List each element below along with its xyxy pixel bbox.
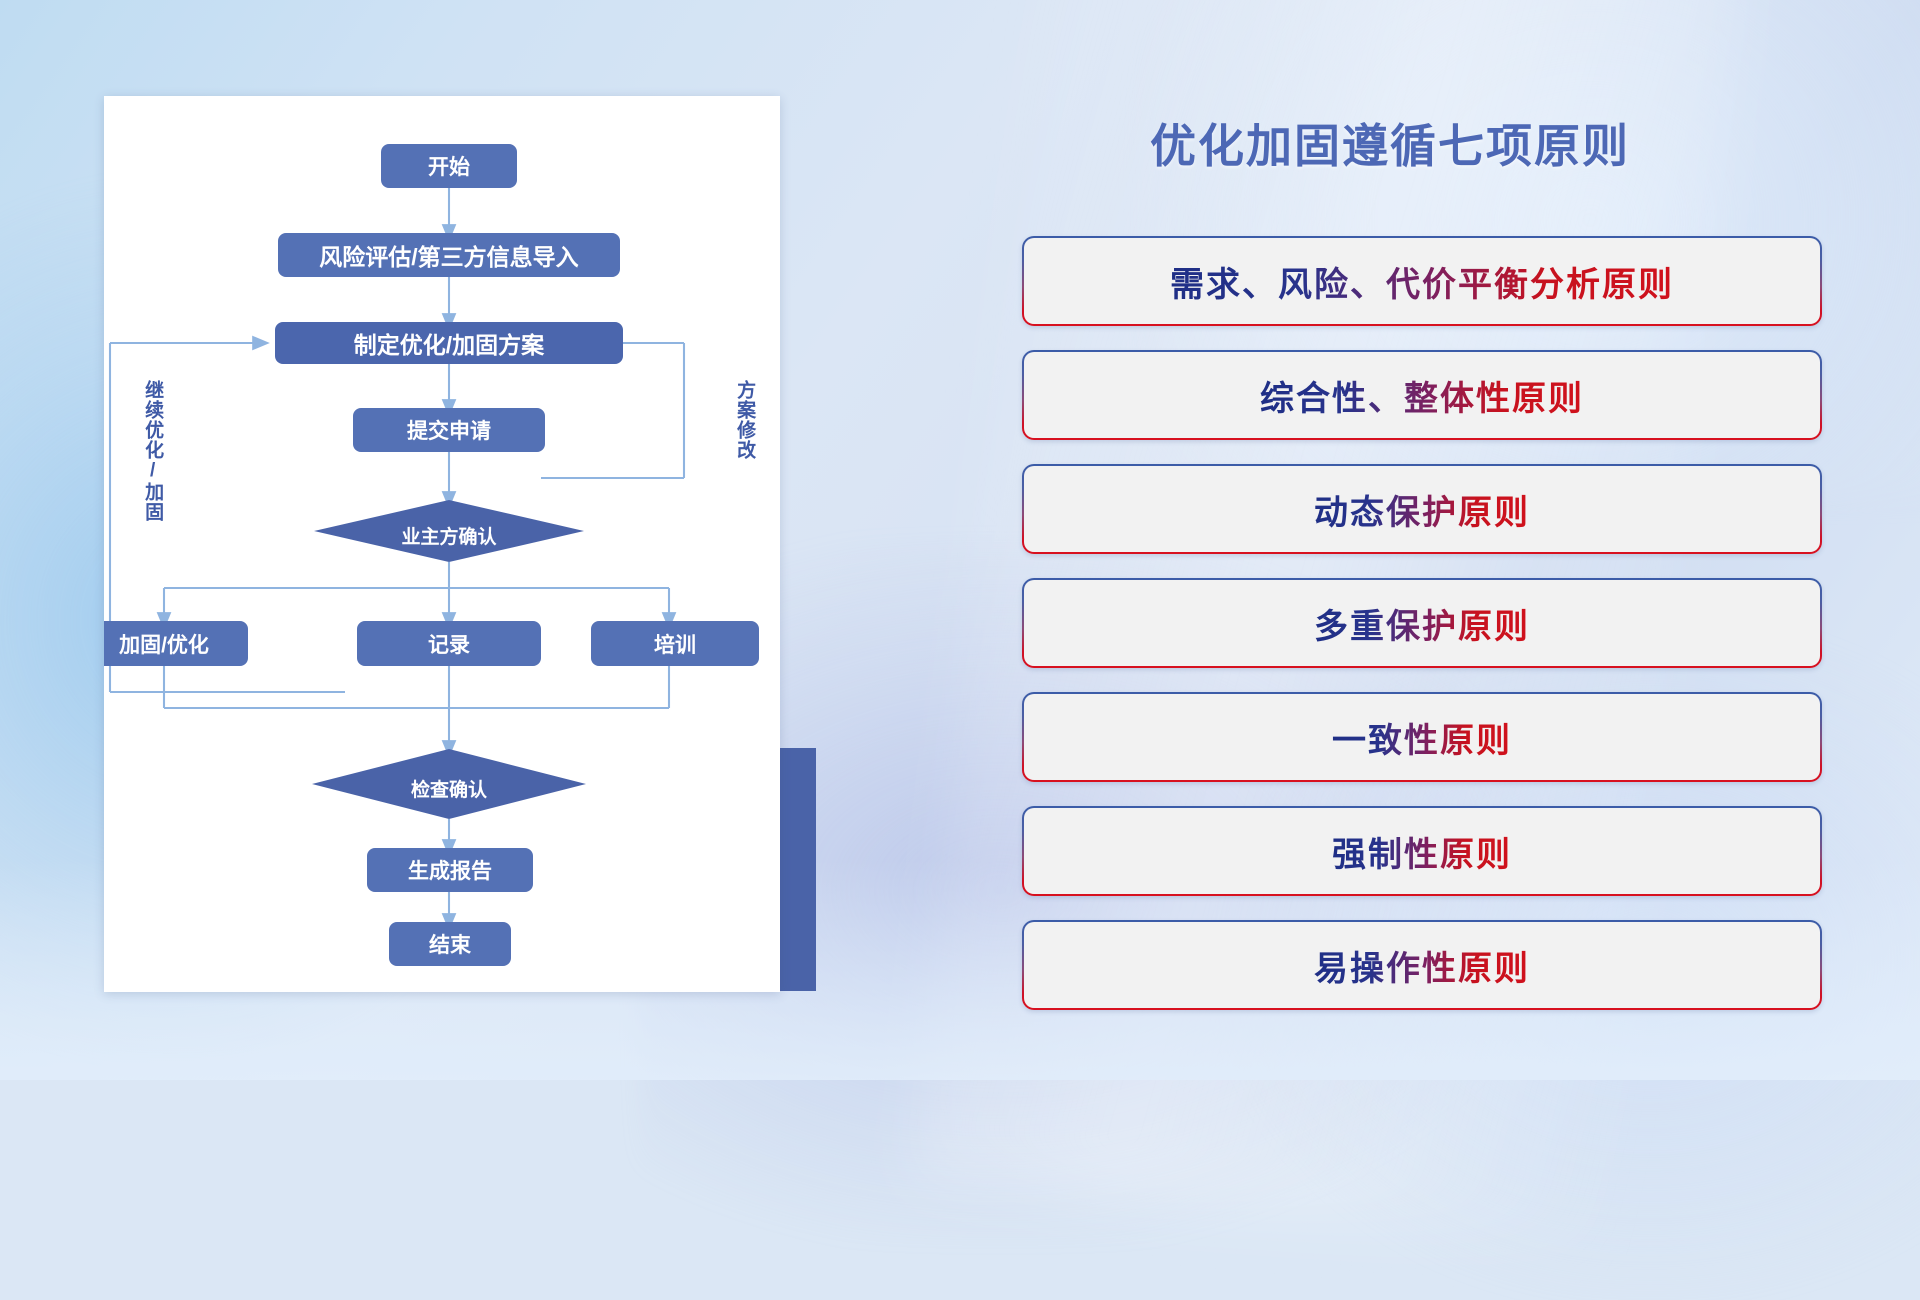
principle-card[interactable]: 一致性原则 — [1022, 692, 1822, 782]
principle-card[interactable]: 需求、风险、代价平衡分析原则 — [1022, 236, 1822, 326]
principle-card-inner: 需求、风险、代价平衡分析原则 — [1024, 238, 1820, 324]
principle-card-inner: 动态保护原则 — [1024, 466, 1820, 552]
principle-label: 需求、风险、代价平衡分析原则 — [1170, 257, 1674, 306]
principle-card-inner: 一致性原则 — [1024, 694, 1820, 780]
principle-label: 多重保护原则 — [1314, 599, 1530, 648]
flow-side-label-left: 继续优化/加固 — [142, 380, 162, 522]
principle-card-inner: 综合性、整体性原则 — [1024, 352, 1820, 438]
principle-card[interactable]: 综合性、整体性原则 — [1022, 350, 1822, 440]
flowchart-diagram — [104, 96, 780, 992]
principle-label: 综合性、整体性原则 — [1260, 371, 1584, 420]
principle-card[interactable]: 动态保护原则 — [1022, 464, 1822, 554]
flow-side-label-right: 方案修改 — [734, 380, 754, 460]
principle-label: 一致性原则 — [1332, 713, 1512, 762]
principle-label: 易操作性原则 — [1314, 941, 1530, 990]
principle-card[interactable]: 易操作性原则 — [1022, 920, 1822, 1010]
page-title: 优化加固遵循七项原则 — [1150, 110, 1630, 176]
principle-label: 动态保护原则 — [1314, 485, 1530, 534]
principle-card[interactable]: 强制性原则 — [1022, 806, 1822, 896]
principle-card-inner: 强制性原则 — [1024, 808, 1820, 894]
principle-card[interactable]: 多重保护原则 — [1022, 578, 1822, 668]
principle-label: 强制性原则 — [1332, 827, 1512, 876]
principles-list: 需求、风险、代价平衡分析原则 综合性、整体性原则 动态保护原则 多重保护原则 一… — [1022, 236, 1822, 1034]
principle-card-inner: 易操作性原则 — [1024, 922, 1820, 1008]
principle-card-inner: 多重保护原则 — [1024, 580, 1820, 666]
